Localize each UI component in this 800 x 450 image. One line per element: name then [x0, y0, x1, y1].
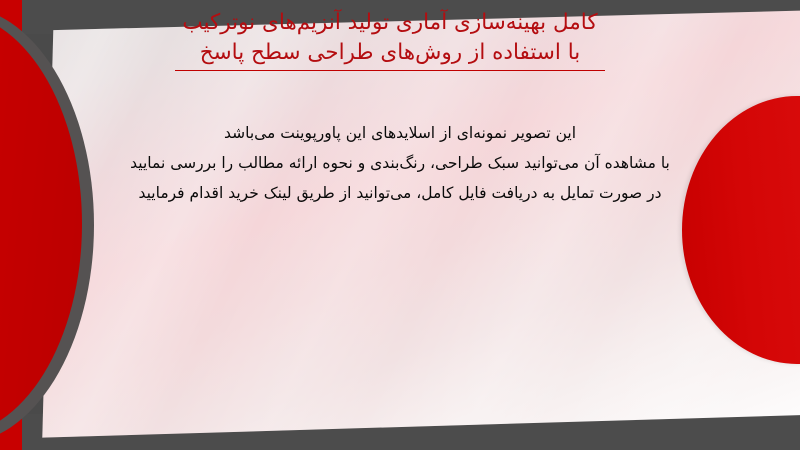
title-line-2: با استفاده از روش‌های طراحی سطح پاسخ: [130, 38, 650, 68]
slide-title: کامل بهینه‌سازی آماری تولید آنزیم‌های نو…: [130, 8, 650, 71]
presentation-slide: کامل بهینه‌سازی آماری تولید آنزیم‌های نو…: [0, 0, 800, 450]
title-line-1: کامل بهینه‌سازی آماری تولید آنزیم‌های نو…: [130, 8, 650, 38]
slide-body: این تصویر نمونه‌ای از اسلایدهای این پاور…: [130, 118, 670, 208]
body-line-3: در صورت تمایل به دریافت فایل کامل، می‌تو…: [130, 178, 670, 208]
body-line-2: با مشاهده آن می‌توانید سبک طراحی، رنگ‌بن…: [130, 148, 670, 178]
title-underline-rule: [175, 70, 605, 71]
body-line-1: این تصویر نمونه‌ای از اسلایدهای این پاور…: [130, 118, 670, 148]
slide-text-layer: کامل بهینه‌سازی آماری تولید آنزیم‌های نو…: [0, 0, 800, 450]
